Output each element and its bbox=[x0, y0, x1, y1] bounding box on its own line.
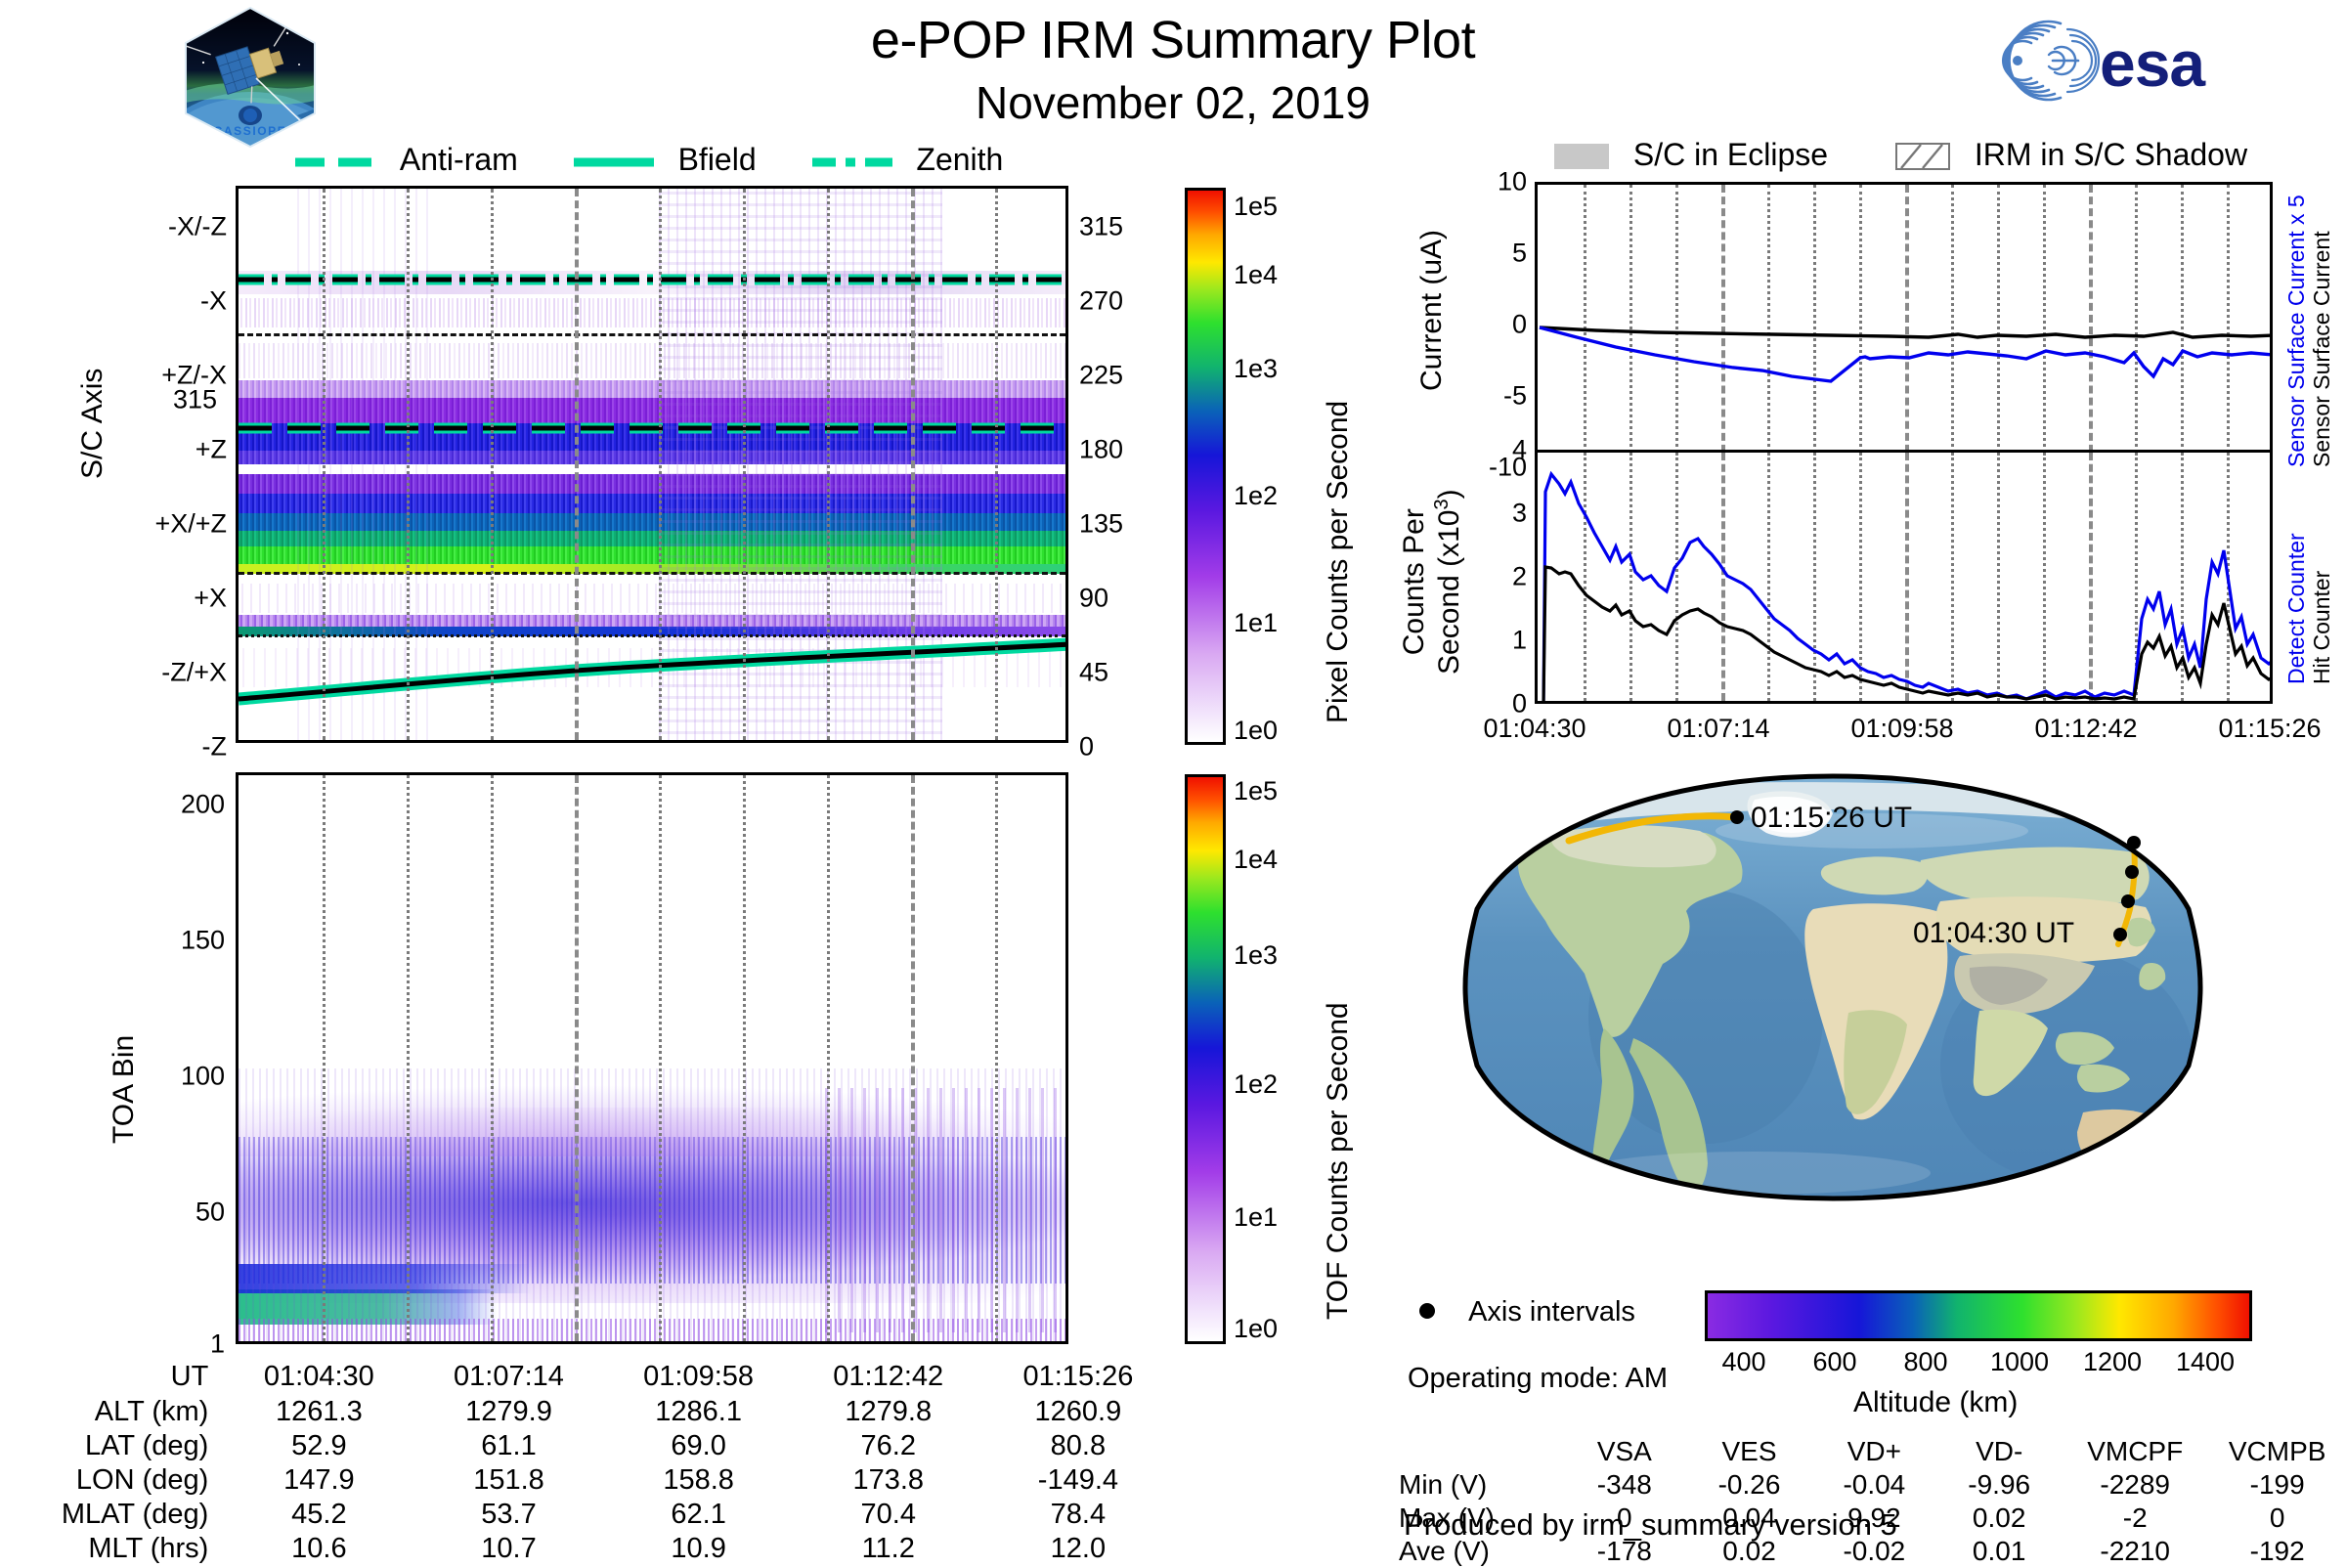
ytick-label-sc-7: -Z bbox=[202, 732, 227, 762]
reference-line bbox=[239, 333, 1065, 336]
map-label-end: 01:15:26 UT bbox=[1751, 802, 1912, 835]
ytick-label-sc-2: +Z/-X bbox=[161, 361, 227, 391]
tof-late-structure bbox=[825, 1088, 1068, 1332]
gridline bbox=[743, 189, 746, 740]
cbar-tick: 1e0 bbox=[1234, 1314, 1278, 1344]
altitude-colorbar-ticks: 400 600 800 1000 1200 1400 bbox=[1705, 1347, 2252, 1386]
cell: -2289 bbox=[2062, 1468, 2208, 1502]
pixel-counts-colorbar bbox=[1185, 188, 1226, 745]
ytick-label-cnt-0: 4 bbox=[1512, 435, 1527, 465]
ytick-label-ang-3: 180 bbox=[1079, 435, 1123, 465]
ytick-label-toa-4: 1 bbox=[210, 1329, 225, 1360]
legend-eclipse: S/C in Eclipse IRM in S/C Shadow bbox=[1554, 137, 2247, 173]
column-header: VES bbox=[1687, 1435, 1812, 1468]
table-row: MLAT (deg) 45.2 53.7 62.1 70.4 78.4 bbox=[0, 1498, 1173, 1532]
counts-ylabel-line1: Counts Per bbox=[1398, 489, 1431, 675]
legend-label-zenith: Zenith bbox=[916, 142, 1003, 177]
cell: 01:15:26 bbox=[983, 1359, 1173, 1395]
cell: -0.26 bbox=[1687, 1468, 1812, 1502]
row-label: MLT (hrs) bbox=[0, 1532, 224, 1566]
altitude-tick: 1000 bbox=[1990, 1347, 2049, 1377]
cell: -192 bbox=[2208, 1535, 2346, 1568]
legend-item-bfield: Bfield bbox=[572, 142, 765, 177]
altitude-colorbar bbox=[1705, 1290, 2252, 1341]
ytick-label-sc-4: +X/+Z bbox=[154, 509, 227, 540]
cell: 01:09:58 bbox=[604, 1359, 794, 1395]
legend-label-shadow: IRM in S/C Shadow bbox=[1975, 137, 2247, 172]
ytick-label-ang-5: 90 bbox=[1079, 584, 1108, 614]
table-row: Min (V) -348 -0.26 -0.04 -9.96 -2289 -19… bbox=[1398, 1468, 2346, 1502]
ytick-label-ang-6: 45 bbox=[1079, 658, 1108, 688]
cell: 70.4 bbox=[794, 1498, 983, 1532]
legend-label-bfield: Bfield bbox=[678, 142, 757, 177]
ytick-label-cur-2: 0 bbox=[1512, 310, 1527, 340]
toa-ytick-labels: 200 150 100 50 1 bbox=[127, 772, 225, 1344]
table-header-row: VSA VES VD+ VD- VMCPF VCMPB bbox=[1398, 1435, 2346, 1468]
gridline bbox=[995, 775, 998, 1341]
cell: 10.9 bbox=[604, 1532, 794, 1566]
ytick-label-cnt-1: 3 bbox=[1512, 499, 1527, 529]
tof-counts-colorbar bbox=[1185, 774, 1226, 1344]
cell: 80.8 bbox=[983, 1429, 1173, 1463]
cell: 10.7 bbox=[413, 1532, 603, 1566]
table-row: LON (deg) 147.9 151.8 158.8 173.8 -149.4 bbox=[0, 1463, 1173, 1498]
page-title: e-POP IRM Summary Plot bbox=[684, 10, 1662, 70]
cell: 10.6 bbox=[224, 1532, 413, 1566]
cell: 52.9 bbox=[224, 1429, 413, 1463]
ytick-label-ang-4: 135 bbox=[1079, 509, 1123, 540]
cbar-tick: 1e4 bbox=[1234, 845, 1278, 875]
gridline bbox=[491, 775, 494, 1341]
solid-line-icon bbox=[572, 154, 656, 170]
column-header: VD+ bbox=[1811, 1435, 1936, 1468]
ytick-label-sc-1: -X bbox=[200, 286, 227, 317]
cell: 53.7 bbox=[413, 1498, 603, 1532]
tof-counts-colorbar-label: TOF Counts per Second bbox=[1322, 1002, 1355, 1320]
altitude-tick: 1400 bbox=[2176, 1347, 2235, 1377]
cbar-tick: 1e5 bbox=[1234, 192, 1278, 222]
ground-track-map[interactable]: 01:15:26 UT 01:04:30 UT bbox=[1461, 772, 2204, 1202]
ytick-label-cnt-3: 1 bbox=[1512, 626, 1527, 656]
altitude-tick: 800 bbox=[1903, 1347, 1947, 1377]
cell: 76.2 bbox=[794, 1429, 983, 1463]
xtick-label-2: 01:09:58 bbox=[1850, 714, 1953, 744]
gridline bbox=[323, 189, 326, 740]
page-date: November 02, 2019 bbox=[684, 76, 1662, 129]
sc-axis-overlays bbox=[239, 189, 1068, 743]
cell: 158.8 bbox=[604, 1463, 794, 1498]
xtick-label-1: 01:07:14 bbox=[1667, 714, 1769, 744]
cell: 1286.1 bbox=[604, 1395, 794, 1429]
gridline bbox=[323, 775, 326, 1341]
altitude-tick: 400 bbox=[1721, 1347, 1765, 1377]
map-label-start: 01:04:30 UT bbox=[1913, 917, 2074, 950]
legend-label-eclipse: S/C in Eclipse bbox=[1633, 137, 1828, 172]
counts-plot[interactable] bbox=[1535, 450, 2273, 704]
svg-text:esa: esa bbox=[2100, 27, 2206, 100]
esa-logo: esa bbox=[1984, 14, 2248, 108]
cbar-tick: 1e4 bbox=[1234, 260, 1278, 290]
cbar-tick: 1e1 bbox=[1234, 608, 1278, 638]
cell: 01:12:42 bbox=[794, 1359, 983, 1395]
gridline bbox=[827, 775, 830, 1341]
cbar-tick: 1e5 bbox=[1234, 776, 1278, 806]
cell: 1279.8 bbox=[794, 1395, 983, 1429]
sc-axis-left-ticks: -X/-Z -X +Z/-X +Z +X/+Z +X -Z/+X -Z bbox=[98, 186, 227, 743]
cell: 61.1 bbox=[413, 1429, 603, 1463]
cbar-tick: 1e0 bbox=[1234, 716, 1278, 746]
gridline bbox=[491, 189, 494, 740]
cbar-tick: 1e1 bbox=[1234, 1202, 1278, 1233]
dashed-line-icon bbox=[293, 154, 377, 170]
counts-right-label-black: Hit Counter bbox=[2309, 571, 2335, 684]
cell: 62.1 bbox=[604, 1498, 794, 1532]
ytick-label-sc-5: +X bbox=[194, 584, 227, 614]
ytick-label-sc-0: -X/-Z bbox=[168, 212, 227, 242]
cell: 0.01 bbox=[1936, 1535, 2062, 1568]
column-header: VSA bbox=[1562, 1435, 1687, 1468]
cell: 69.0 bbox=[604, 1429, 794, 1463]
svg-text:CASSIOPE: CASSIOPE bbox=[214, 124, 287, 138]
altitude-colorbar-label: Altitude (km) bbox=[1853, 1386, 2018, 1419]
gridline-major bbox=[911, 189, 915, 740]
counts-right-label-blue: Detect Counter bbox=[2283, 533, 2310, 684]
cell: 1279.9 bbox=[413, 1395, 603, 1429]
cell: 78.4 bbox=[983, 1498, 1173, 1532]
cell: 0 bbox=[2208, 1502, 2346, 1535]
ytick-label-toa-2: 100 bbox=[181, 1062, 225, 1092]
gridline bbox=[407, 775, 410, 1341]
current-ytick-labels: 10 5 0 -5 -10 bbox=[1437, 182, 1527, 467]
row-label: LAT (deg) bbox=[0, 1429, 224, 1463]
row-label: Min (V) bbox=[1398, 1468, 1562, 1502]
cell: -9.96 bbox=[1936, 1468, 2062, 1502]
ytick-label-cur-3: -5 bbox=[1503, 381, 1527, 412]
eclipse-swatch-icon bbox=[1554, 144, 1609, 169]
row-label: LON (deg) bbox=[0, 1463, 224, 1498]
row-label: MLAT (deg) bbox=[0, 1498, 224, 1532]
operating-mode: Operating mode: AM bbox=[1408, 1363, 1668, 1395]
altitude-tick: 1200 bbox=[2083, 1347, 2142, 1377]
xtick-label-4: 01:15:26 bbox=[2218, 714, 2321, 744]
table-row: MLT (hrs) 10.6 10.7 10.9 11.2 12.0 bbox=[0, 1532, 1173, 1566]
ytick-label-sc-3: +Z bbox=[195, 435, 227, 465]
gridline bbox=[659, 775, 662, 1341]
cell: 01:07:14 bbox=[413, 1359, 603, 1395]
gridline-major bbox=[575, 775, 579, 1341]
ytick-label-cnt-2: 2 bbox=[1512, 562, 1527, 592]
legend-sc-axis: Anti-ram Bfield Zenith bbox=[293, 142, 1003, 178]
axis-interval-dot-icon bbox=[1419, 1303, 1435, 1319]
mission-logo: CASSIOPE bbox=[182, 6, 319, 149]
ytick-label-toa-3: 50 bbox=[195, 1198, 225, 1228]
pixel-counts-colorbar-label: Pixel Counts per Second bbox=[1322, 401, 1355, 723]
cell: -2 bbox=[2062, 1502, 2208, 1535]
cell: -348 bbox=[1562, 1468, 1687, 1502]
ephemeris-table: UT 01:04:30 01:07:14 01:09:58 01:12:42 0… bbox=[0, 1359, 1173, 1566]
column-header: VCMPB bbox=[2208, 1435, 2346, 1468]
xtick-label-0: 01:04:30 bbox=[1483, 714, 1586, 744]
ytick-label-cur-1: 5 bbox=[1512, 239, 1527, 269]
table-row: LAT (deg) 52.9 61.1 69.0 76.2 80.8 bbox=[0, 1429, 1173, 1463]
ytick-label-sc-6: -Z/+X bbox=[161, 658, 227, 688]
column-header: VMCPF bbox=[2062, 1435, 2208, 1468]
cell: 151.8 bbox=[413, 1463, 603, 1498]
ytick-label-toa-0: 200 bbox=[181, 790, 225, 820]
cell: 147.9 bbox=[224, 1463, 413, 1498]
gridline-major bbox=[911, 775, 915, 1341]
cbar-tick: 1e3 bbox=[1234, 940, 1278, 971]
ytick-label-ang-0: 315 bbox=[1079, 212, 1123, 242]
cell: 11.2 bbox=[794, 1532, 983, 1566]
voltage-table: VSA VES VD+ VD- VMCPF VCMPB Min (V) -348… bbox=[1398, 1435, 2346, 1568]
reference-line bbox=[239, 634, 1065, 637]
axis-intervals-legend: Axis intervals bbox=[1419, 1296, 1635, 1328]
gridline bbox=[659, 189, 662, 740]
row-label: ALT (km) bbox=[0, 1395, 224, 1429]
xtick-label-3: 01:12:42 bbox=[2034, 714, 2137, 744]
axis-intervals-label: Axis intervals bbox=[1468, 1296, 1635, 1328]
current-right-label-black: Sensor Surface Current bbox=[2309, 231, 2335, 467]
table-row: UT 01:04:30 01:07:14 01:09:58 01:12:42 0… bbox=[0, 1359, 1173, 1395]
ytick-label-toa-1: 150 bbox=[181, 926, 225, 956]
sc-axis-right-ticks: 315 270 225 180 135 90 45 0 bbox=[1079, 186, 1187, 743]
counts-series bbox=[1538, 453, 2273, 704]
legend-item-shadow: IRM in S/C Shadow bbox=[1895, 137, 2247, 172]
cell: 01:04:30 bbox=[224, 1359, 413, 1395]
sc-axis-plot[interactable] bbox=[236, 186, 1068, 743]
cell: 173.8 bbox=[794, 1463, 983, 1498]
cell: 1260.9 bbox=[983, 1395, 1173, 1429]
gridline bbox=[827, 189, 830, 740]
cell: 0.02 bbox=[1936, 1502, 2062, 1535]
current-plot[interactable] bbox=[1535, 182, 2273, 467]
cell: -2210 bbox=[2062, 1535, 2208, 1568]
gridline bbox=[995, 189, 998, 740]
gridline bbox=[407, 189, 410, 740]
cell: 45.2 bbox=[224, 1498, 413, 1532]
gridline bbox=[743, 775, 746, 1341]
legend-item-anti-ram: Anti-ram bbox=[293, 142, 527, 177]
legend-item-zenith: Zenith bbox=[810, 142, 1004, 177]
cell: -149.4 bbox=[983, 1463, 1173, 1498]
altitude-tick: 600 bbox=[1812, 1347, 1856, 1377]
counts-ytick-labels: 4 3 2 1 0 bbox=[1437, 450, 1527, 704]
counts-xtick-labels: 01:04:30 01:07:14 01:09:58 01:12:42 01:1… bbox=[1535, 714, 2273, 753]
current-series bbox=[1538, 185, 2273, 467]
cell: -0.04 bbox=[1811, 1468, 1936, 1502]
legend-label-anti-ram: Anti-ram bbox=[400, 142, 518, 177]
row-label: UT bbox=[0, 1359, 224, 1395]
gridline-major bbox=[575, 189, 579, 740]
ytick-label-cur-0: 10 bbox=[1498, 167, 1527, 197]
ytick-label-ang-1: 270 bbox=[1079, 286, 1123, 317]
current-right-label-blue: Sensor Surface Current x 5 bbox=[2283, 195, 2310, 467]
hatched-swatch-icon bbox=[1895, 143, 1950, 170]
reference-line bbox=[239, 572, 1065, 575]
dash-dot-line-icon bbox=[810, 154, 894, 170]
ytick-label-ang-7: 0 bbox=[1079, 732, 1094, 762]
cbar-tick: 1e2 bbox=[1234, 1069, 1278, 1100]
table-row: ALT (km) 1261.3 1279.9 1286.1 1279.8 126… bbox=[0, 1395, 1173, 1429]
cell: 1261.3 bbox=[224, 1395, 413, 1429]
toa-plot[interactable] bbox=[236, 772, 1068, 1344]
ytick-label-ang-2: 225 bbox=[1079, 361, 1123, 391]
legend-item-eclipse: S/C in Eclipse bbox=[1554, 137, 1837, 172]
column-header: VD- bbox=[1936, 1435, 2062, 1468]
cell: 12.0 bbox=[983, 1532, 1173, 1566]
cbar-tick: 1e2 bbox=[1234, 481, 1278, 511]
footer-produced-by: Produced by irm_summary version 5 bbox=[1404, 1507, 1897, 1543]
cell: -199 bbox=[2208, 1468, 2346, 1502]
